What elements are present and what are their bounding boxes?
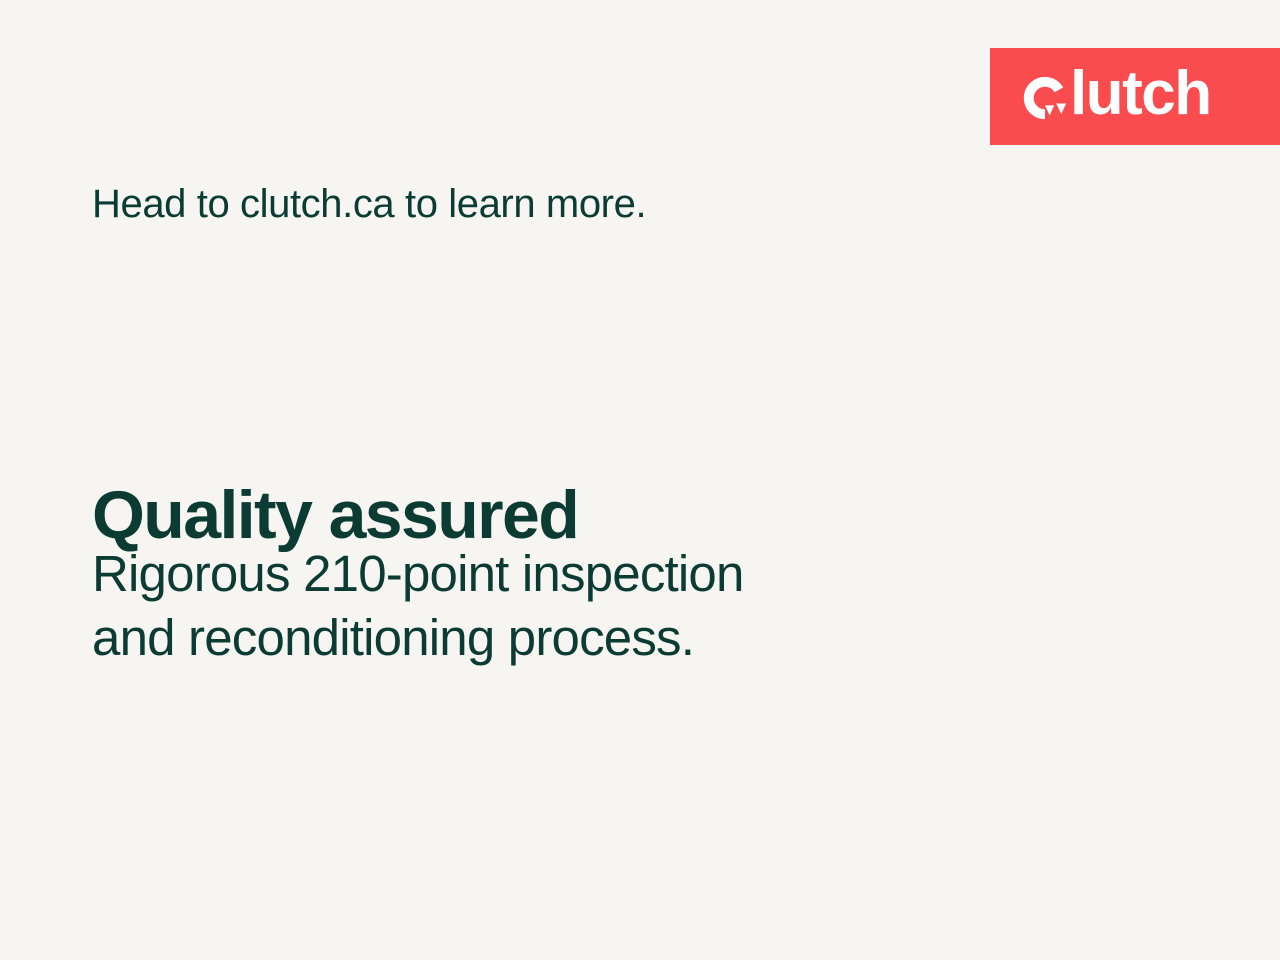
page-title: Quality assured <box>92 480 578 551</box>
tagline-text: Head to clutch.ca to learn more. <box>92 180 646 228</box>
brand-lockup: lutch <box>1022 48 1211 145</box>
clutch-c-mark-icon <box>1022 75 1068 121</box>
body-copy-line-2: and reconditioning process. <box>92 606 744 670</box>
body-copy: Rigorous 210-point inspection and recond… <box>92 542 744 670</box>
brand-logo-block[interactable]: lutch <box>990 48 1280 145</box>
slide-canvas: lutch Head to clutch.ca to learn more. Q… <box>0 0 1280 960</box>
brand-wordmark: lutch <box>1070 63 1211 125</box>
body-copy-line-1: Rigorous 210-point inspection <box>92 542 744 606</box>
